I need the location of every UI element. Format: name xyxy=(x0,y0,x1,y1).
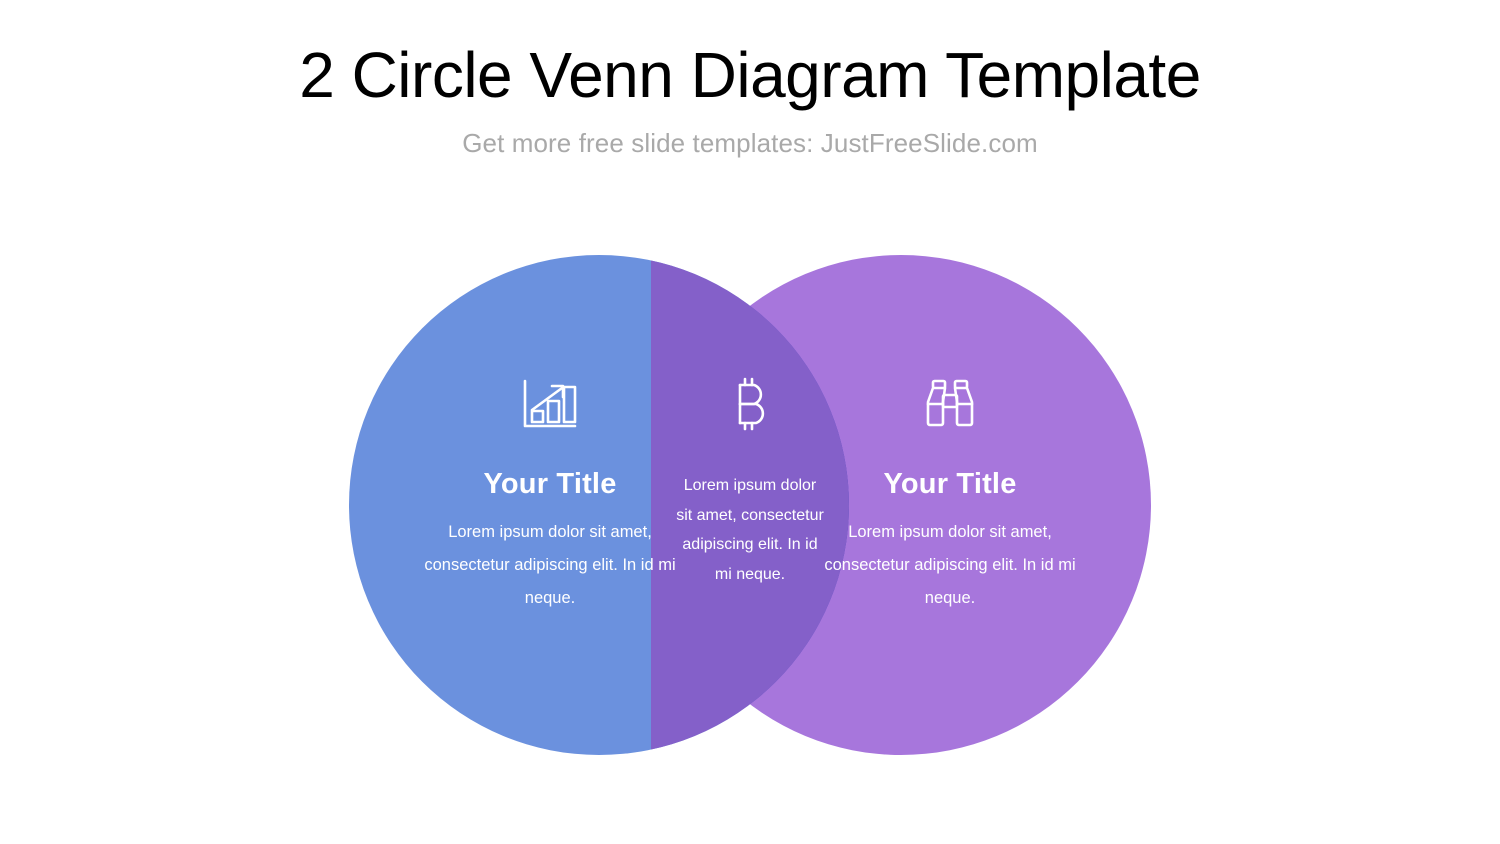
venn-right-body: Lorem ipsum dolor sit amet, consectetur … xyxy=(815,516,1085,615)
venn-left-body: Lorem ipsum dolor sit amet, consectetur … xyxy=(415,516,685,615)
page-title: 2 Circle Venn Diagram Template xyxy=(0,42,1500,109)
venn-diagram: Your Title Lorem ipsum dolor sit amet, c… xyxy=(349,255,1151,755)
venn-left-title: Your Title xyxy=(483,468,616,501)
venn-panel-right: Your Title Lorem ipsum dolor sit amet, c… xyxy=(799,255,1101,755)
bitcoin-icon xyxy=(728,377,772,431)
venn-right-title: Your Title xyxy=(883,468,1016,501)
slide-canvas: 2 Circle Venn Diagram Template Get more … xyxy=(0,0,1500,844)
page-subtitle: Get more free slide templates: JustFreeS… xyxy=(0,128,1500,159)
bar-chart-growth-icon xyxy=(519,377,581,431)
slide-header: 2 Circle Venn Diagram Template Get more … xyxy=(0,0,1500,159)
binoculars-icon xyxy=(919,377,981,431)
